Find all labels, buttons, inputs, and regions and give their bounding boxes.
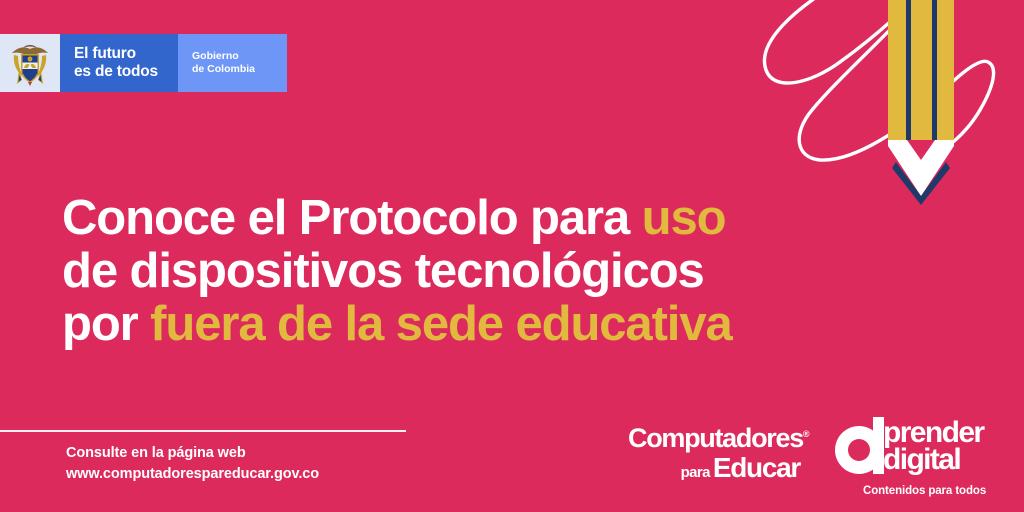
aprender-digital-tagline: Contenidos para todos (863, 485, 986, 497)
headline-line-2-white: de dispositivos tecnológicos (62, 244, 704, 298)
gov-slogan-line-2: es de todos (74, 63, 158, 81)
headline-block: Conoce el Protocolo para uso de disposit… (62, 192, 962, 351)
website-url[interactable]: www.computadorespareducar.gov.co (66, 464, 319, 485)
gov-entity-block: Gobierno de Colombia (178, 34, 287, 92)
cpe-word-main-row: Computadores® (628, 420, 800, 452)
headline-line-1-white: Conoce el Protocolo para (62, 191, 642, 245)
headline-line-3: por fuera de la sede educativa (62, 298, 962, 351)
headline-line-2: de dispositivos tecnológicos (62, 245, 962, 298)
colombia-coat-of-arms-icon (9, 40, 51, 86)
cpe-word-educar: Educar (713, 454, 800, 482)
gov-slogan-block: El futuro es de todos (60, 34, 178, 92)
cpe-word-main: Computadores (628, 423, 803, 453)
aprender-word-digital: digital (883, 445, 960, 475)
gov-colombia-banner: El futuro es de todos Gobierno de Colomb… (0, 34, 287, 92)
consult-label: Consulte en la página web (66, 443, 319, 464)
headline-line-3-gold: fuera de la sede educativa (150, 297, 731, 351)
cpe-registered-icon: ® (803, 429, 810, 439)
pencil-decoration (744, 0, 1024, 210)
aprender-digital-logo: prender digital Contenidos para todos (833, 415, 1005, 497)
swirl-line-icon (764, 0, 993, 160)
pencil-icon (888, 0, 954, 205)
headline-line-1-gold: uso (642, 191, 726, 245)
consult-block: Consulte en la página web www.computador… (66, 443, 319, 485)
computadores-para-educar-logo: Computadores® para Educar (628, 420, 800, 482)
coat-of-arms-container (0, 34, 60, 92)
gov-entity-line-1: Gobierno (192, 50, 255, 63)
headline-line-3-white: por (62, 297, 150, 351)
gov-entity-line-2: de Colombia (192, 63, 255, 76)
headline-line-1: Conoce el Protocolo para uso (62, 192, 962, 245)
cpe-word-para: para (681, 465, 710, 480)
gov-slogan-line-1: El futuro (74, 45, 158, 63)
footer-divider-rule (0, 430, 406, 432)
cpe-word-second-row: para Educar (628, 454, 800, 482)
